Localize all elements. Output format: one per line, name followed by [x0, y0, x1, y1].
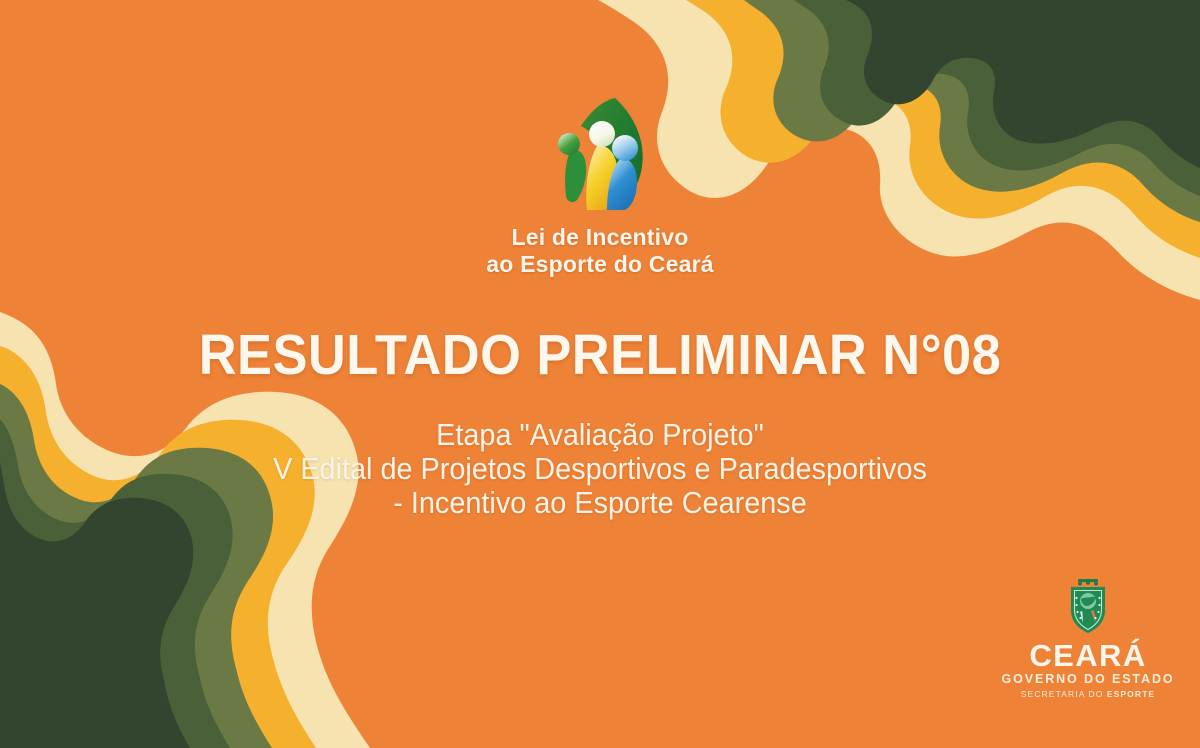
department-name: ESPORTE: [1107, 689, 1155, 699]
poster-canvas: Lei de Incentivo ao Esporte do Ceará RES…: [0, 0, 1200, 748]
subtitle-block: Etapa "Avaliação Projeto" V Edital de Pr…: [42, 418, 1158, 520]
shield-crown: [1078, 579, 1098, 586]
brand-logo-block: Lei de Incentivo ao Esporte do Ceará: [0, 92, 1200, 278]
poster-content: Lei de Incentivo ao Esporte do Ceará RES…: [0, 0, 1200, 748]
department-line: SECRETARIA DO ESPORTE: [1000, 689, 1176, 700]
brand-logo-text: Lei de Incentivo ao Esporte do Ceará: [0, 224, 1200, 278]
page-title: RESULTADO PRELIMINAR N°08: [48, 325, 1152, 385]
brand-line-1: Lei de Incentivo: [0, 224, 1200, 251]
subtitle-line-1: Etapa "Avaliação Projeto": [42, 418, 1158, 452]
government-entity: GOVERNO DO ESTADO: [1000, 672, 1176, 687]
subtitle-line-3: - Incentivo ao Esporte Cearense: [42, 486, 1158, 520]
brand-line-2: ao Esporte do Ceará: [0, 251, 1200, 278]
ceara-coat-of-arms-shield: [1062, 578, 1114, 634]
three-athletes-leaf-logo: [541, 92, 659, 210]
department-prefix: SECRETARIA DO: [1021, 689, 1107, 699]
athlete-blue-head: [612, 135, 638, 161]
government-signature: CEARÁ GOVERNO DO ESTADO SECRETARIA DO ES…: [1000, 578, 1176, 700]
athlete-yellow-head: [589, 121, 615, 147]
subtitle-line-2: V Edital de Projetos Desportivos e Parad…: [42, 452, 1158, 486]
athlete-green-head: [558, 133, 580, 155]
state-name: CEARÁ: [1000, 640, 1176, 671]
athlete-green: [565, 149, 586, 202]
